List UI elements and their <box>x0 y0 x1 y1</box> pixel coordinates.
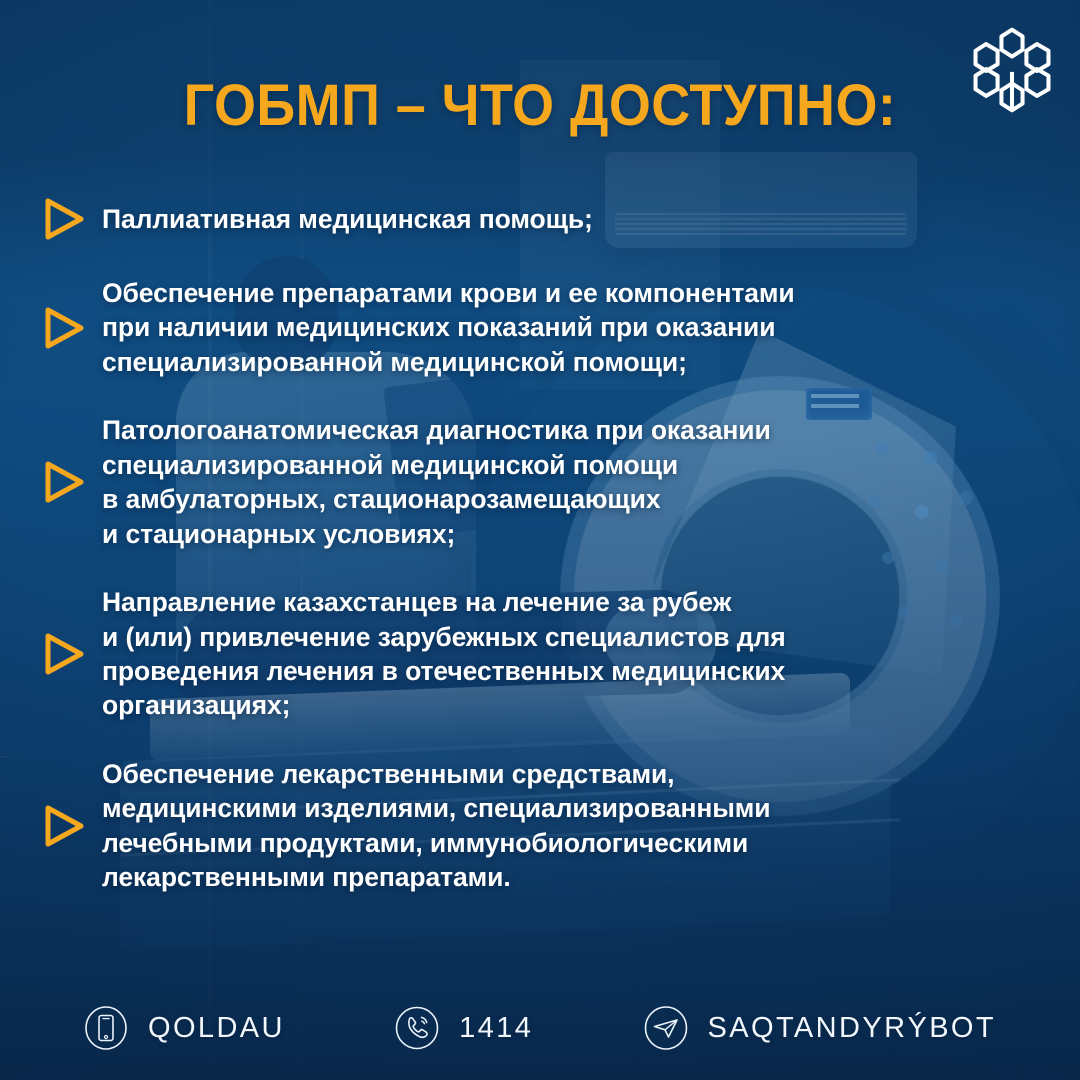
list-item: Обеспечение препаратами крови и ее компо… <box>44 276 1004 379</box>
footer-label-qoldau: QOLDAU <box>148 1012 285 1045</box>
phone-call-icon <box>395 1006 439 1050</box>
list-item: Патологоанатомическая диагностика при ок… <box>44 413 1004 551</box>
footer-label-telegram-bot: SAQTANDYRÝBOT <box>708 1012 996 1045</box>
list-item: Обеспечение лекарственными средствами, м… <box>44 757 1004 895</box>
list-item: Паллиативная медицинская помощь; <box>44 196 1004 242</box>
list-item-label: Патологоанатомическая диагностика при ок… <box>102 413 1004 551</box>
page-title: ГОБМП – ЧТО ДОСТУПНО: <box>38 72 1042 139</box>
poster-canvas: ГОБМП – ЧТО ДОСТУПНО: Паллиативная медиц… <box>0 0 1080 1080</box>
triangle-right-icon <box>44 305 102 351</box>
list-item-label: Направление казахстанцев на лечение за р… <box>102 585 1004 723</box>
triangle-right-icon <box>44 459 102 505</box>
list-item-label: Паллиативная медицинская помощь; <box>102 202 1004 236</box>
triangle-right-icon <box>44 631 102 677</box>
list-item: Направление казахстанцев на лечение за р… <box>44 585 1004 723</box>
smartphone-icon <box>84 1006 128 1050</box>
footer-item-hotline[interactable]: 1414 <box>395 1006 533 1050</box>
triangle-right-icon <box>44 196 102 242</box>
triangle-right-icon <box>44 803 102 849</box>
list-item-label: Обеспечение препаратами крови и ее компо… <box>102 276 1004 379</box>
footer-label-hotline: 1414 <box>459 1012 533 1045</box>
footer-contact-bar: QOLDAU 1414 S <box>0 976 1080 1080</box>
footer-item-telegram-bot[interactable]: SAQTANDYRÝBOT <box>644 1006 996 1050</box>
benefits-list: Паллиативная медицинская помощь; Обеспеч… <box>44 196 1004 895</box>
telegram-paper-plane-icon <box>644 1006 688 1050</box>
footer-item-qoldau[interactable]: QOLDAU <box>84 1006 285 1050</box>
list-item-label: Обеспечение лекарственными средствами, м… <box>102 757 1004 895</box>
